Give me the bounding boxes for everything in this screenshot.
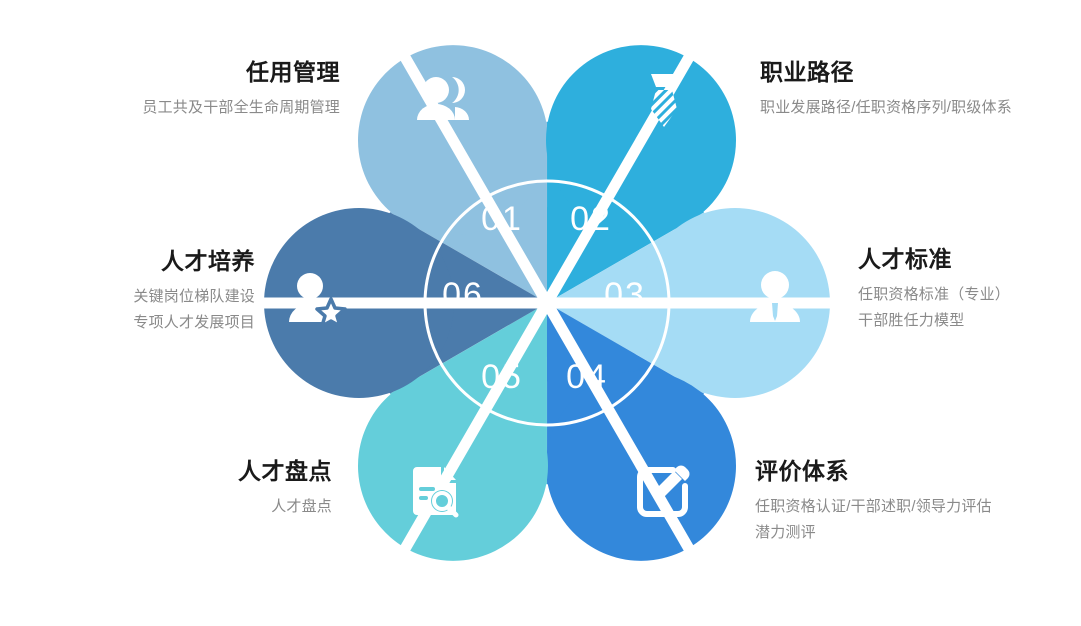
infographic-canvas: 01 02 03 04 05 06 bbox=[0, 0, 1081, 626]
label-title-05: 人才盘点 bbox=[60, 457, 332, 486]
label-title-06: 人才培养 bbox=[40, 247, 255, 276]
label-subtitle-06-0: 关键岗位梯队建设 bbox=[40, 284, 255, 310]
label-block-06[interactable]: 人才培养 关键岗位梯队建设 专项人才发展项目 bbox=[40, 247, 255, 336]
label-subtitle-05-0: 人才盘点 bbox=[60, 494, 332, 520]
label-title-03: 人才标准 bbox=[858, 245, 1081, 274]
label-title-02: 职业路径 bbox=[760, 58, 1080, 87]
segment-number-02: 02 bbox=[570, 200, 612, 238]
segment-number-01: 01 bbox=[481, 200, 523, 238]
label-subtitle-04-1: 潜力测评 bbox=[755, 520, 1081, 546]
document-search-icon bbox=[413, 467, 456, 515]
label-block-01[interactable]: 任用管理 员工共及干部全生命周期管理 bbox=[10, 58, 340, 121]
segment-number-05: 05 bbox=[481, 358, 523, 396]
label-title-04: 评价体系 bbox=[755, 457, 1081, 486]
label-block-03[interactable]: 人才标准 任职资格标准（专业） 干部胜任力模型 bbox=[858, 245, 1081, 334]
segment-number-06: 06 bbox=[442, 276, 484, 314]
label-block-04[interactable]: 评价体系 任职资格认证/干部述职/领导力评估 潜力测评 bbox=[755, 457, 1081, 546]
label-subtitle-04-0: 任职资格认证/干部述职/领导力评估 bbox=[755, 494, 1081, 520]
label-subtitle-01-0: 员工共及干部全生命周期管理 bbox=[10, 95, 340, 121]
label-title-01: 任用管理 bbox=[10, 58, 340, 87]
label-block-02[interactable]: 职业路径 职业发展路径/任职资格序列/职级体系 bbox=[760, 58, 1080, 121]
segment-number-03: 03 bbox=[604, 276, 646, 314]
label-subtitle-02-0: 职业发展路径/任职资格序列/职级体系 bbox=[760, 95, 1080, 121]
label-subtitle-03-0: 任职资格标准（专业） bbox=[858, 282, 1081, 308]
segment-number-04: 04 bbox=[566, 358, 608, 396]
label-subtitle-03-1: 干部胜任力模型 bbox=[858, 308, 1081, 334]
label-subtitle-06-1: 专项人才发展项目 bbox=[40, 310, 255, 336]
label-block-05[interactable]: 人才盘点 人才盘点 bbox=[60, 457, 332, 520]
